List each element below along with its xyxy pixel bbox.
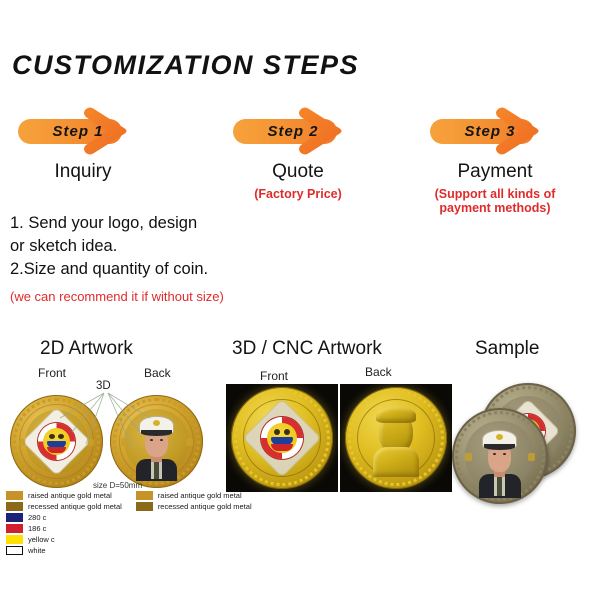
section-heading-3d-cnc: 3D / CNC Artwork <box>232 338 382 360</box>
cnc-panel-back <box>340 384 452 492</box>
step-2-arrow: Step 2 <box>233 105 363 157</box>
legend-item: raised antique gold metal <box>6 490 122 500</box>
emblem-detail-right <box>58 434 64 439</box>
portrait-cap-brim <box>141 430 172 436</box>
requirements-note: (we can recommend it if without size) <box>10 289 310 304</box>
step-1-arrow: Step 1 <box>18 105 148 157</box>
emblem-detail-left <box>274 429 280 435</box>
legend-label: white <box>28 546 46 555</box>
legend-swatch <box>6 502 23 511</box>
step-3-badge-label: Step 3 <box>444 123 536 140</box>
legend-item: 280 c <box>6 512 122 522</box>
legend-item: recessed antique gold metal <box>6 501 122 511</box>
legend-label: 186 c <box>28 524 46 533</box>
step-2: Step 2 Quote (Factory Price) <box>233 105 363 157</box>
legend-label: 280 c <box>28 513 46 522</box>
legend-label: yellow c <box>28 535 55 544</box>
portrait-tie <box>154 461 159 479</box>
sample-coin-front <box>452 408 548 504</box>
emblem-red-band <box>271 444 293 451</box>
side-ornament-right <box>88 439 94 446</box>
legend-label: raised antique gold metal <box>28 491 112 500</box>
legend-swatch <box>6 535 23 544</box>
requirement-line-1: 1. Send your logo, design <box>10 212 310 235</box>
step-2-sub: (Factory Price) <box>211 187 385 201</box>
legend-label: recessed antique gold metal <box>28 502 122 511</box>
legend-swatch <box>6 524 23 533</box>
portrait-tie <box>497 476 502 496</box>
portrait-cap-badge <box>496 434 503 440</box>
step-3: Step 3 Payment (Support all kinds of pay… <box>430 105 560 157</box>
section-heading-sample: Sample <box>475 338 539 360</box>
epaulette-right <box>186 438 193 446</box>
callout-3d-label: 3D <box>96 380 111 392</box>
coin-2d-back <box>110 395 203 488</box>
legend-swatch <box>6 546 23 555</box>
side-ornament-left <box>19 439 25 446</box>
cnc-panel-front <box>226 384 338 492</box>
embossed-portrait-cap <box>376 407 416 423</box>
portrait-cap-brim <box>484 444 515 450</box>
portrait-eye-left <box>150 439 153 441</box>
legend-item: recessed antique gold metal <box>136 501 252 511</box>
requirement-line-3: 2.Size and quantity of coin. <box>10 258 310 281</box>
legend-label: recessed antique gold metal <box>158 502 252 511</box>
legend-item: raised antique gold metal <box>136 490 252 500</box>
epaulette-left <box>121 438 128 446</box>
step-3-name: Payment <box>430 161 560 183</box>
legend-swatch <box>136 491 153 500</box>
label-3d-back: Back <box>365 365 392 379</box>
step-3-sub: (Support all kinds of payment methods) <box>408 187 582 215</box>
label-2d-front: Front <box>38 366 66 380</box>
step-1-badge-label: Step 1 <box>32 123 124 140</box>
legend-swatch <box>136 502 153 511</box>
cnc-coin-back <box>345 387 447 489</box>
legend-item: white <box>6 545 122 555</box>
portrait-cap-badge <box>153 420 160 426</box>
epaulette-right <box>528 453 535 461</box>
label-3d-front: Front <box>260 369 288 383</box>
size-note: size D=50mm <box>93 481 142 490</box>
step-1-name: Inquiry <box>18 161 148 183</box>
coin-2d-front <box>10 395 103 488</box>
epaulette-left <box>465 453 472 461</box>
embossed-portrait-shoulders <box>373 447 419 477</box>
legend-swatch <box>6 491 23 500</box>
customization-steps-infographic: CUSTOMIZATION STEPS Step 1 Inquiry <box>0 0 600 600</box>
color-legend: raised antique gold metal recessed antiq… <box>6 490 252 555</box>
step-3-arrow: Step 3 <box>430 105 560 157</box>
page-title: CUSTOMIZATION STEPS <box>12 50 359 81</box>
requirement-line-2: or sketch idea. <box>10 235 310 258</box>
step-2-badge-label: Step 2 <box>247 123 339 140</box>
section-heading-2d: 2D Artwork <box>40 338 133 360</box>
legend-label: raised antique gold metal <box>158 491 242 500</box>
legend-column-2: raised antique gold metal recessed antiq… <box>136 490 252 555</box>
portrait-eye-right <box>503 453 506 455</box>
legend-swatch <box>6 513 23 522</box>
emblem-detail-left <box>49 434 55 439</box>
emblem-detail-right <box>284 429 290 435</box>
step-1: Step 1 Inquiry <box>18 105 148 157</box>
portrait-eye-right <box>160 439 163 441</box>
emblem-red-band <box>47 447 66 453</box>
cnc-coin-front <box>231 387 333 489</box>
portrait-eye-left <box>493 453 496 455</box>
legend-item: yellow c <box>6 534 122 544</box>
step-2-name: Quote <box>233 161 363 183</box>
legend-item: 186 c <box>6 523 122 533</box>
legend-column-1: raised antique gold metal recessed antiq… <box>6 490 122 555</box>
requirements-block: 1. Send your logo, design or sketch idea… <box>10 212 310 304</box>
label-2d-back: Back <box>144 366 171 380</box>
